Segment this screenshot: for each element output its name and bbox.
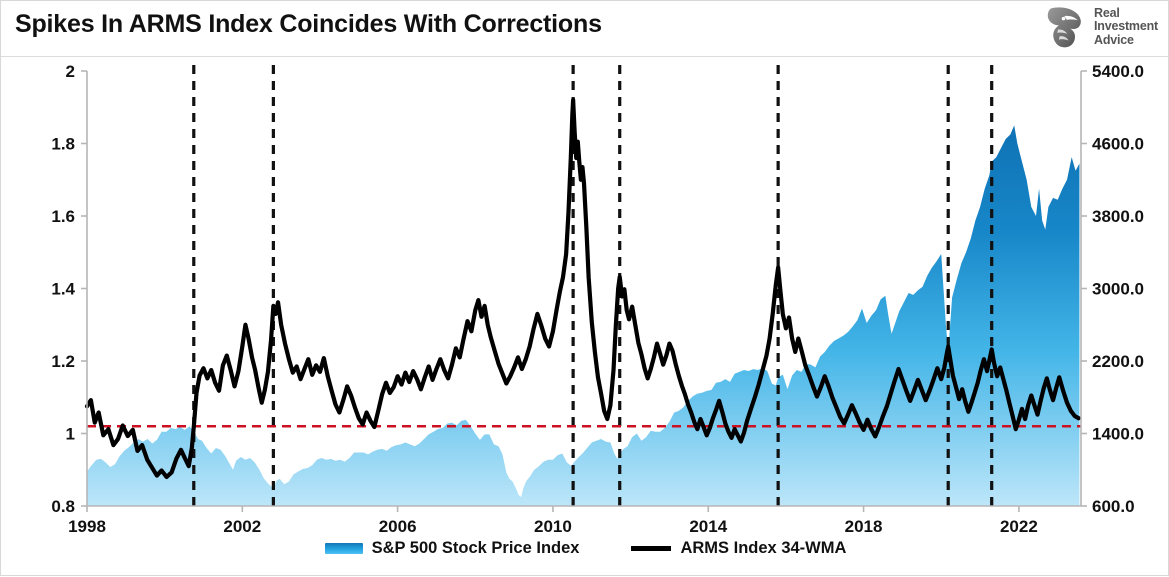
svg-text:1.4: 1.4 <box>51 280 75 299</box>
chart-svg: 0.811.21.41.61.82 600.01400.02200.03000.… <box>1 57 1169 577</box>
y-axis-right-ticks: 600.01400.02200.03000.03800.04600.05400.… <box>1081 62 1144 516</box>
page-title: Spikes In ARMS Index Coincides With Corr… <box>15 10 602 39</box>
legend-label-spx: S&P 500 Stock Price Index <box>372 539 580 558</box>
x-axis-ticks: 1998200220062010201420182022 <box>68 506 1038 536</box>
svg-text:4600.0: 4600.0 <box>1092 135 1144 154</box>
eagle-head-icon <box>1045 5 1087 49</box>
chart-plot-area: 0.811.21.41.61.82 600.01400.02200.03000.… <box>1 57 1169 577</box>
svg-text:2200.0: 2200.0 <box>1092 352 1144 371</box>
brand-logo: Real Investment Advice <box>1045 5 1158 49</box>
svg-text:1.2: 1.2 <box>51 352 75 371</box>
arms-swatch-icon <box>631 546 671 551</box>
svg-text:1.6: 1.6 <box>51 207 75 226</box>
svg-text:1.8: 1.8 <box>51 135 75 154</box>
spx-swatch-icon <box>325 543 363 554</box>
chart-page: Spikes In ARMS Index Coincides With Corr… <box>0 0 1169 576</box>
brand-line-3: Advice <box>1094 34 1158 48</box>
svg-text:1400.0: 1400.0 <box>1092 425 1144 444</box>
brand-line-1: Real <box>1094 7 1158 21</box>
svg-text:600.0: 600.0 <box>1092 497 1135 516</box>
svg-text:5400.0: 5400.0 <box>1092 62 1144 81</box>
legend-item-spx[interactable]: S&P 500 Stock Price Index <box>325 539 580 558</box>
legend-label-arms: ARMS Index 34-WMA <box>680 539 846 558</box>
chart-legend: S&P 500 Stock Price Index ARMS Index 34-… <box>1 533 1169 563</box>
svg-text:1: 1 <box>66 425 75 444</box>
svg-text:3800.0: 3800.0 <box>1092 207 1144 226</box>
brand-text: Real Investment Advice <box>1094 7 1158 48</box>
svg-text:3000.0: 3000.0 <box>1092 280 1144 299</box>
y-axis-left-ticks: 0.811.21.41.61.82 <box>51 62 87 516</box>
brand-line-2: Investment <box>1094 20 1158 34</box>
legend-item-arms[interactable]: ARMS Index 34-WMA <box>631 539 846 558</box>
chart-header: Spikes In ARMS Index Coincides With Corr… <box>1 1 1169 57</box>
svg-text:2: 2 <box>66 62 75 81</box>
svg-text:0.8: 0.8 <box>51 497 75 516</box>
